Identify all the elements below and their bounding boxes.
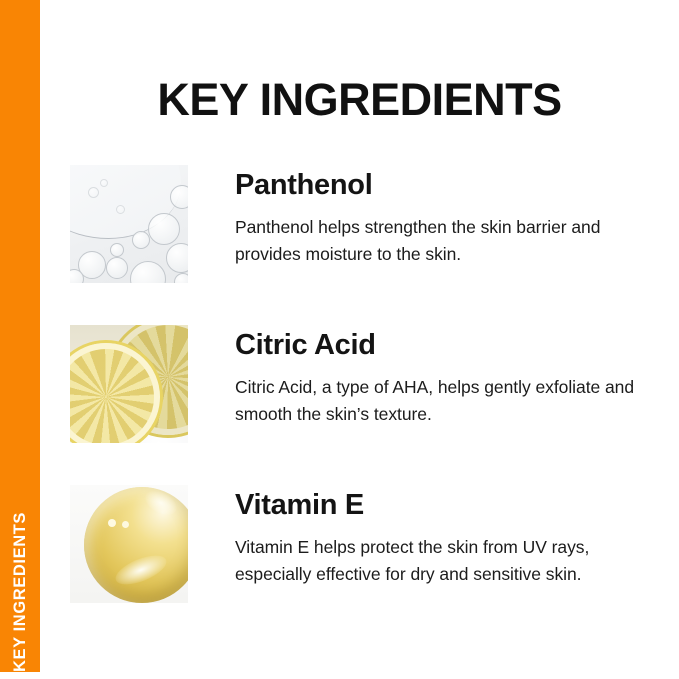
- ingredient-list: Panthenol Panthenol helps strengthen the…: [70, 165, 670, 645]
- side-rail: [0, 0, 40, 672]
- ingredient-name: Vitamin E: [235, 491, 670, 520]
- lemon-slices-icon: [70, 325, 188, 443]
- gel-bubbles-icon: [70, 165, 188, 283]
- oil-droplet-icon: [70, 485, 188, 603]
- ingredient-description: Vitamin E helps protect the skin from UV…: [235, 534, 635, 588]
- ingredient-item-citric-acid: Citric Acid Citric Acid, a type of AHA, …: [70, 325, 670, 443]
- ingredient-description: Panthenol helps strengthen the skin barr…: [235, 214, 635, 268]
- ingredient-name: Panthenol: [235, 171, 670, 200]
- ingredient-text-panthenol: Panthenol Panthenol helps strengthen the…: [235, 165, 670, 268]
- ingredient-thumbnail-vitamin-e: [70, 485, 188, 603]
- ingredient-thumbnail-citric-acid: [70, 325, 188, 443]
- ingredient-name: Citric Acid: [235, 331, 670, 360]
- ingredient-thumbnail-panthenol: [70, 165, 188, 283]
- page-title: KEY INGREDIENTS: [40, 76, 679, 123]
- ingredient-item-panthenol: Panthenol Panthenol helps strengthen the…: [70, 165, 670, 283]
- ingredient-description: Citric Acid, a type of AHA, helps gently…: [235, 374, 635, 428]
- content-panel: KEY INGREDIENTS: [40, 0, 679, 679]
- ingredient-text-citric-acid: Citric Acid Citric Acid, a type of AHA, …: [235, 325, 670, 428]
- ingredient-item-vitamin-e: Vitamin E Vitamin E helps protect the sk…: [70, 485, 670, 603]
- ingredient-text-vitamin-e: Vitamin E Vitamin E helps protect the sk…: [235, 485, 670, 588]
